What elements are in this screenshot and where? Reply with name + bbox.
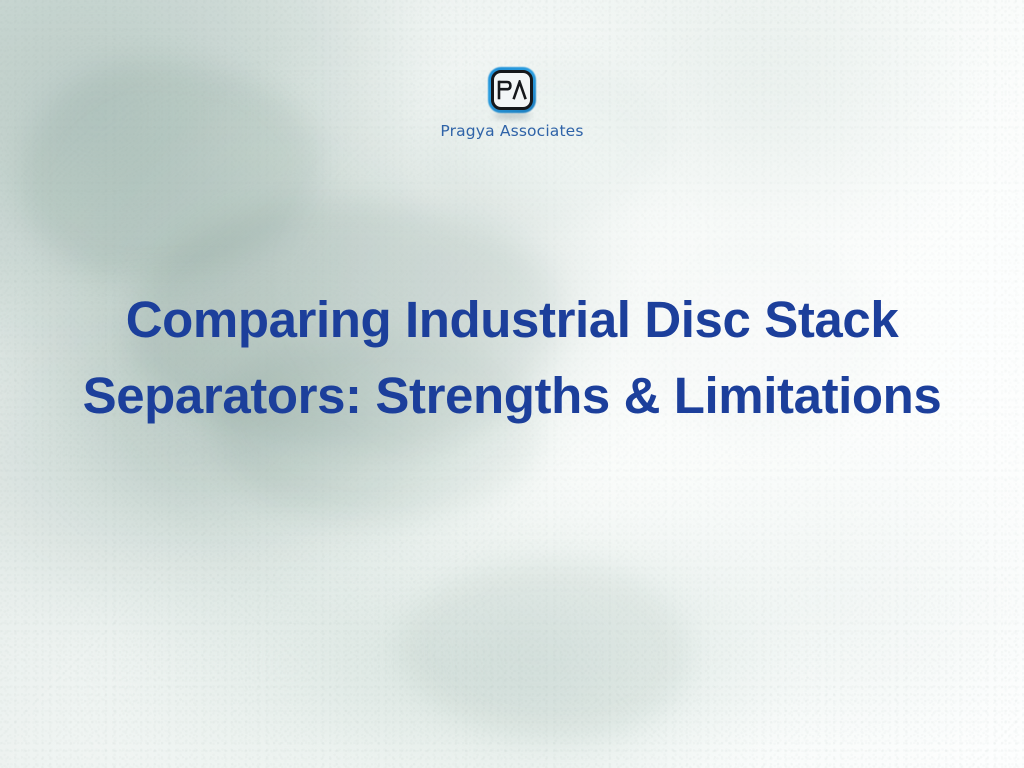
logo-drop-shadow: [493, 112, 531, 119]
brand-lockup: Pragya Associates: [0, 66, 1024, 140]
pa-monogram-icon: [497, 80, 527, 100]
page-title-line-1: Comparing Industrial Disc Stack: [40, 282, 984, 358]
page-title-line-2: Separators: Strengths & Limitations: [40, 358, 984, 434]
blog-banner: Pragya Associates Comparing Industrial D…: [0, 0, 1024, 768]
logo-mark: [487, 66, 537, 114]
page-title: Comparing Industrial Disc Stack Separato…: [0, 282, 1024, 434]
brand-wordmark: Pragya Associates: [440, 122, 583, 140]
